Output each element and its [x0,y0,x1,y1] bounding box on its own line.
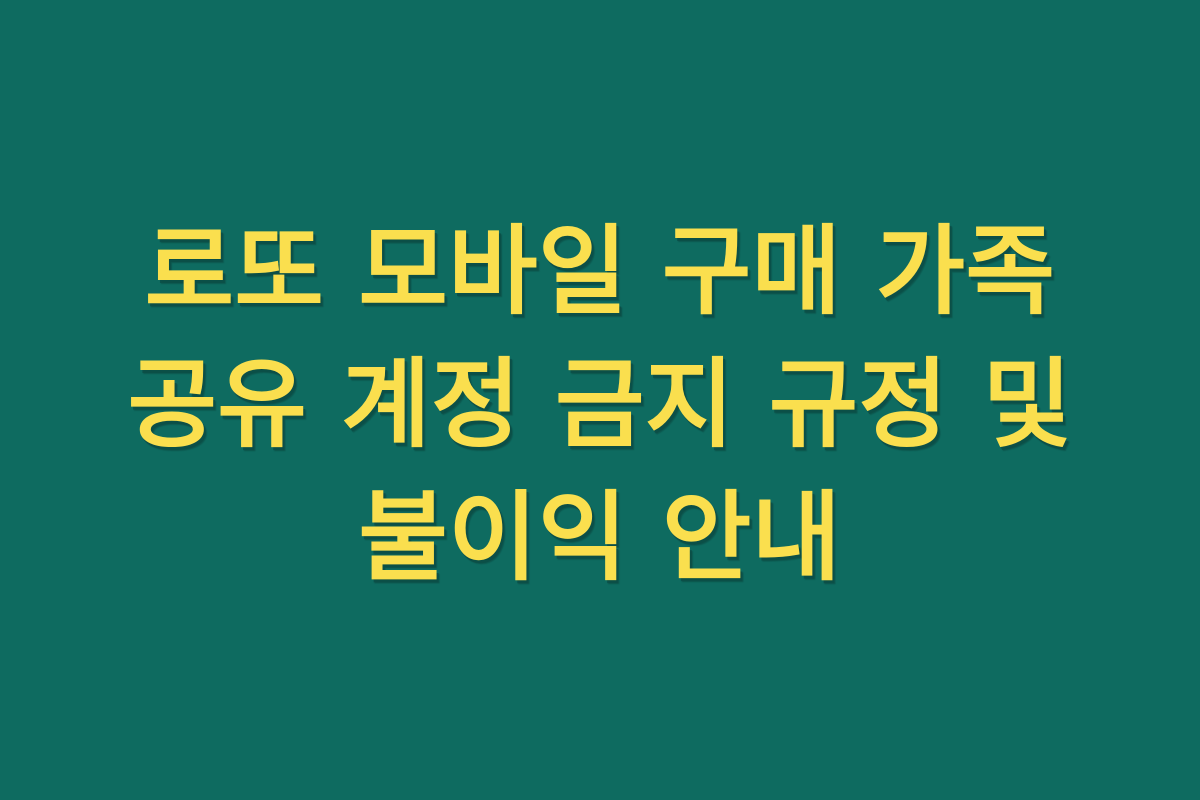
headline-block: 로또 모바일 구매 가족 공유 계정 금지 규정 및 불이익 안내 [70,197,1130,604]
poster-canvas: 로또 모바일 구매 가족 공유 계정 금지 규정 및 불이익 안내 [0,0,1200,800]
headline-line-3: 불이익 안내 [359,471,842,604]
headline-line-2: 공유 계정 금지 규정 및 [128,338,1073,471]
headline-line-1: 로또 모바일 구매 가족 [145,205,1055,338]
